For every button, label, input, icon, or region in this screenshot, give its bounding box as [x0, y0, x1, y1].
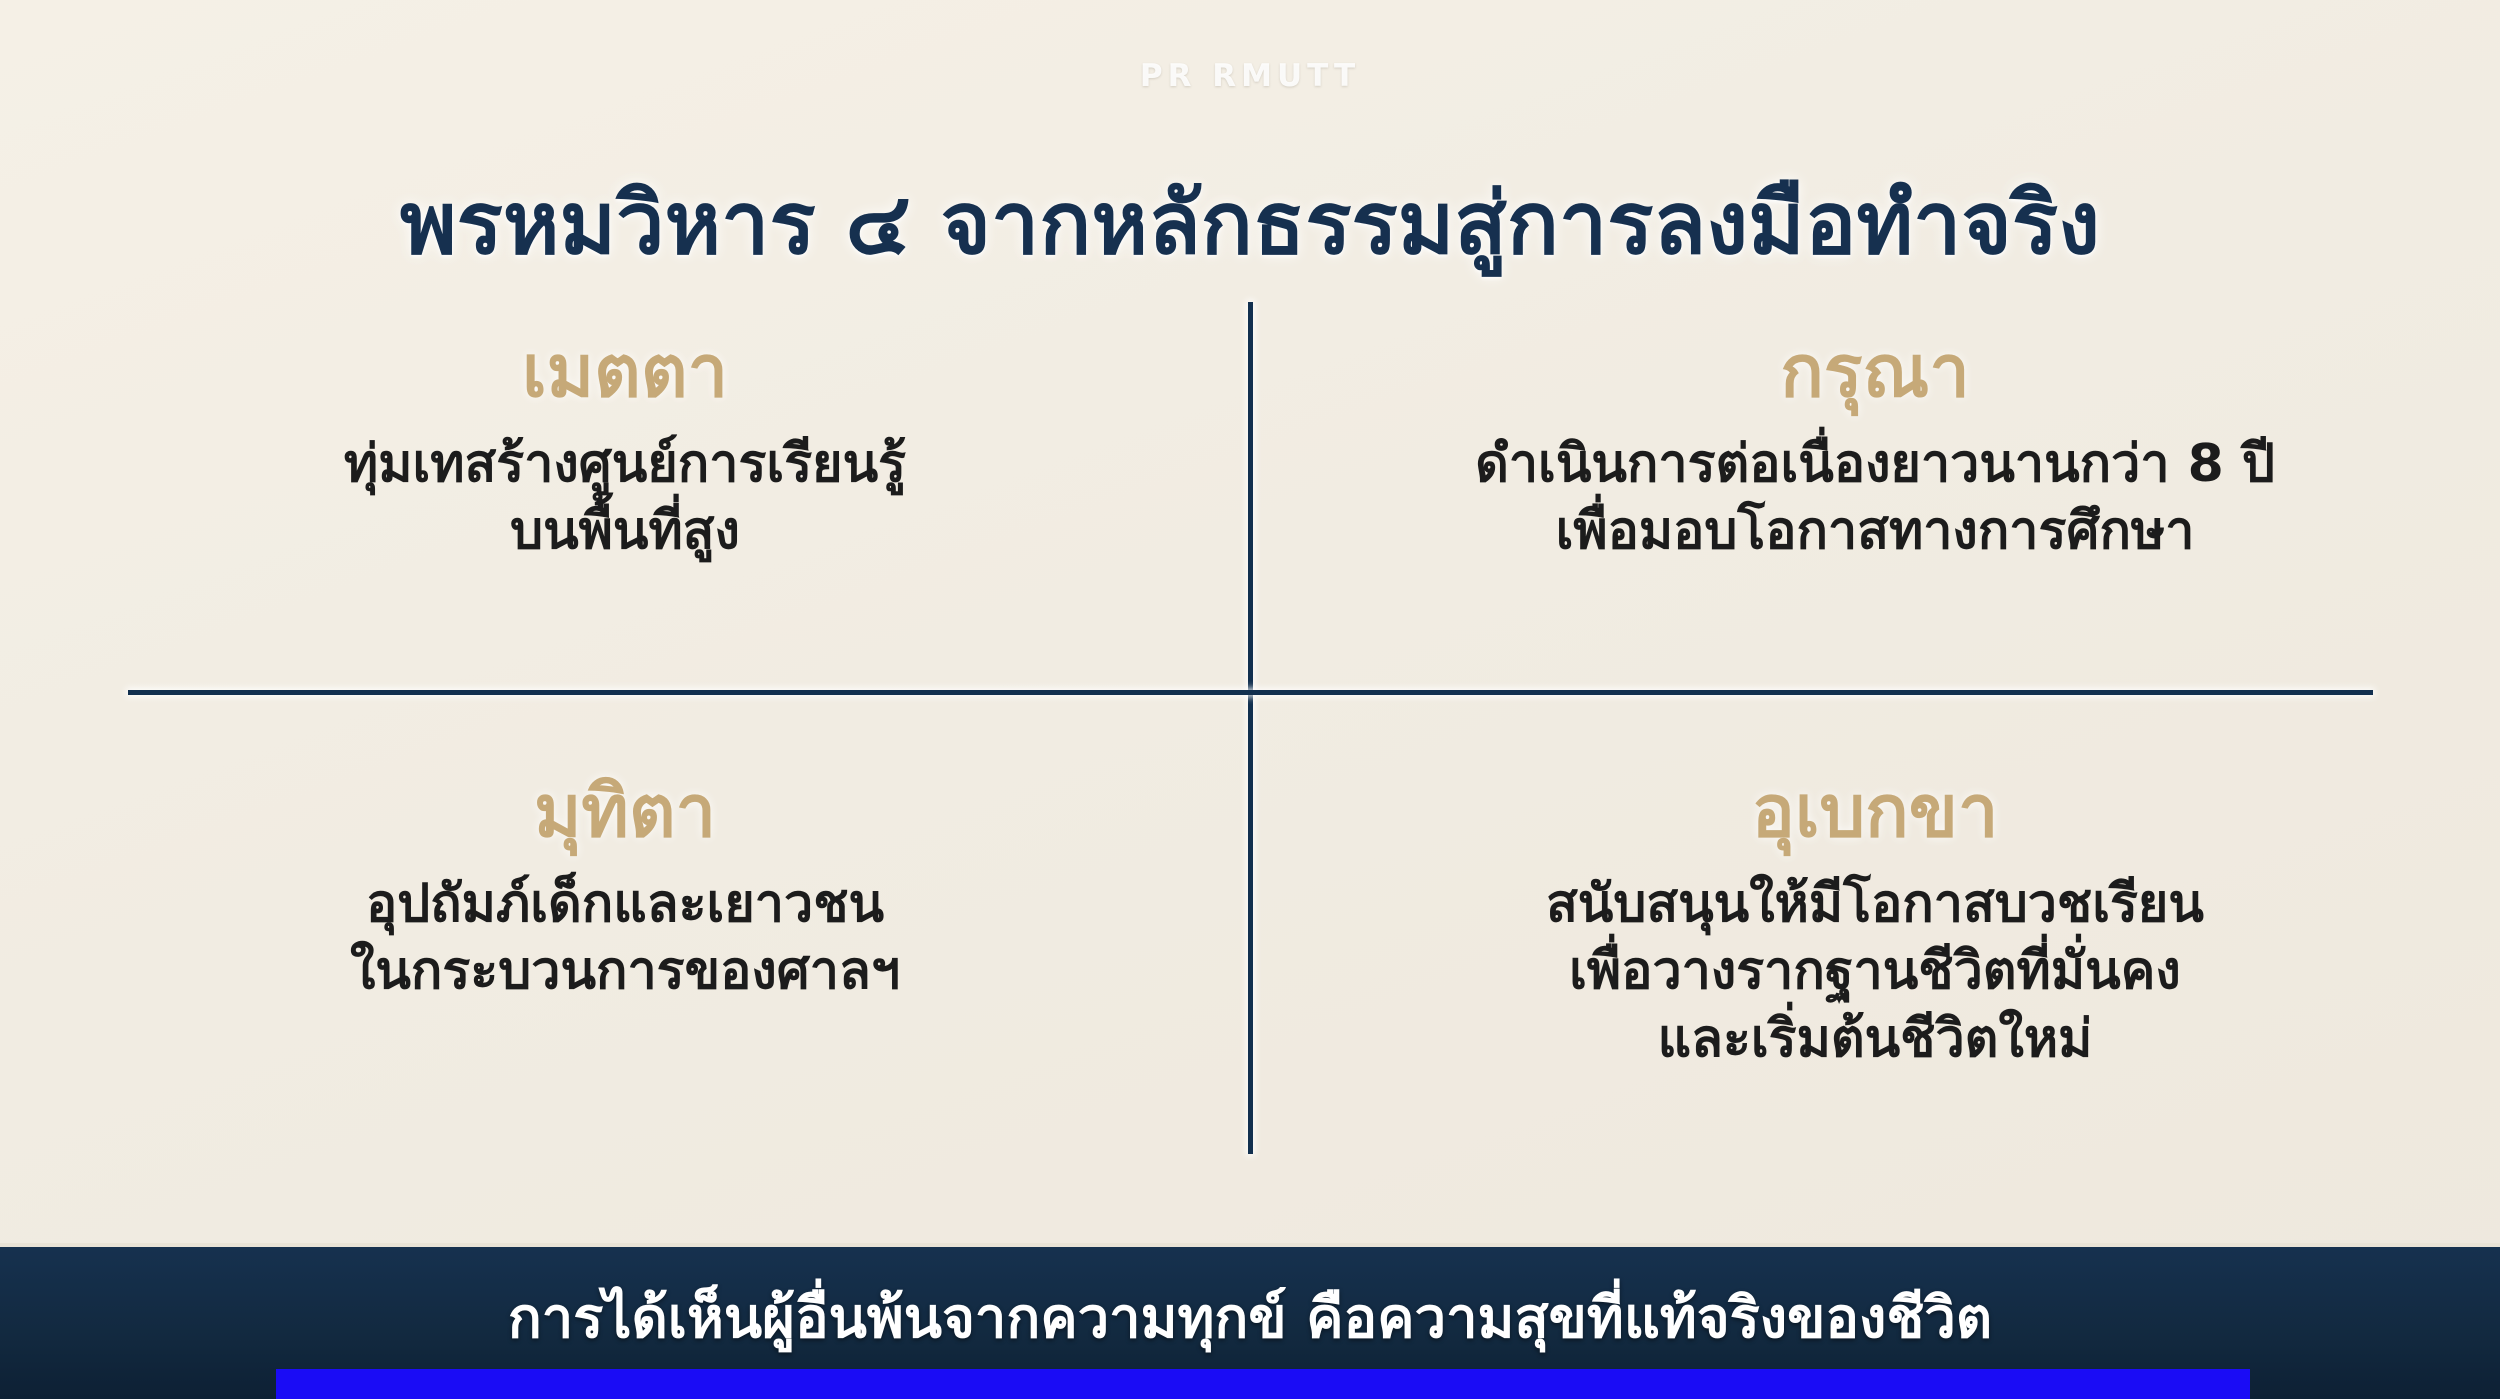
quadrant-body-line: เพื่อมอบโอกาสทางการศึกษา	[1300, 498, 2450, 566]
quadrant-grid: เมตตา ทุ่มเทสร้างศูนย์การเรียนรู้ บนพื้น…	[0, 300, 2500, 1160]
progress-bar-fill	[276, 1369, 2250, 1399]
quadrant-body-metta: ทุ่มเทสร้างศูนย์การเรียนรู้ บนพื้นที่สูง	[50, 431, 1200, 566]
quadrant-body-line: อุปถัมภ์เด็กและเยาวชน	[50, 871, 1200, 939]
quadrant-body-line: และเริ่มต้นชีวิตใหม่	[1300, 1006, 2450, 1074]
quadrant-heading-karuna: กรุณา	[1300, 330, 2450, 413]
quadrant-body-line: ทุ่มเทสร้างศูนย์การเรียนรู้	[50, 431, 1200, 499]
quadrant-body-line: บนพื้นที่สูง	[50, 498, 1200, 566]
pr-rmutt-watermark: PR RMUTT	[0, 58, 2500, 94]
bottom-banner: การได้เห็นผู้อื่นพ้นจากความทุกข์ คือความ…	[0, 1243, 2500, 1399]
slide-root: PR RMUTT พรหมวิหาร ๔ จากหลักธรรมสู่การลง…	[0, 0, 2500, 1399]
quadrant-body-line: ดำเนินการต่อเนื่องยาวนานกว่า 8 ปี	[1300, 431, 2450, 499]
quadrant-upekkha: อุเบกขา สนับสนุนให้มีโอกาสบวชเรียน เพื่อ…	[1300, 770, 2450, 1074]
quadrant-body-line: เพื่อวางรากฐานชีวิตที่มั่นคง	[1300, 938, 2450, 1006]
quadrant-body-karuna: ดำเนินการต่อเนื่องยาวนานกว่า 8 ปี เพื่อม…	[1300, 431, 2450, 566]
quadrant-metta: เมตตา ทุ่มเทสร้างศูนย์การเรียนรู้ บนพื้น…	[50, 330, 1200, 566]
quadrant-heading-metta: เมตตา	[50, 330, 1200, 413]
quadrant-heading-upekkha: อุเบกขา	[1300, 770, 2450, 853]
quadrant-body-upekkha: สนับสนุนให้มีโอกาสบวชเรียน เพื่อวางรากฐา…	[1300, 871, 2450, 1074]
quadrant-karuna: กรุณา ดำเนินการต่อเนื่องยาวนานกว่า 8 ปี …	[1300, 330, 2450, 566]
quadrant-body-line: สนับสนุนให้มีโอกาสบวชเรียน	[1300, 871, 2450, 939]
quadrant-mudita: มุทิตา อุปถัมภ์เด็กและเยาวชน ในกระบวนการ…	[50, 770, 1200, 1006]
banner-caption: การได้เห็นผู้อื่นพ้นจากความทุกข์ คือความ…	[0, 1273, 2500, 1362]
quadrant-body-line: ในกระบวนการของศาลฯ	[50, 938, 1200, 1006]
quadrant-heading-mudita: มุทิตา	[50, 770, 1200, 853]
quadrant-body-mudita: อุปถัมภ์เด็กและเยาวชน ในกระบวนการของศาลฯ	[50, 871, 1200, 1006]
progress-bar[interactable]	[276, 1369, 2250, 1399]
page-title: พรหมวิหาร ๔ จากหลักธรรมสู่การลงมือทำจริง	[0, 176, 2500, 272]
